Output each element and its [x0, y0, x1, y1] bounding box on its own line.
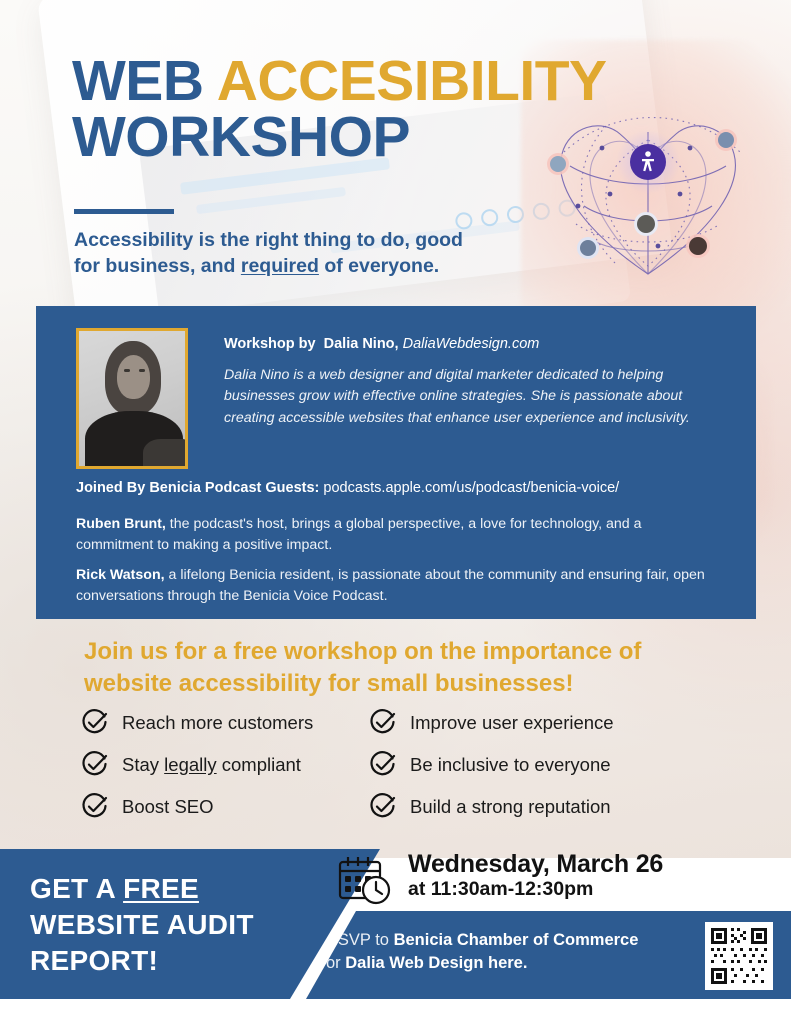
free-audit-free-emphasis: FREE [123, 873, 199, 904]
free-audit-line-2: WEBSITE AUDIT [30, 907, 330, 943]
benefit-label-emphasis: legally [164, 754, 216, 775]
headline-web: WEB [72, 49, 217, 113]
event-datetime: Wednesday, March 26 at 11:30am-12:30pm [336, 850, 766, 910]
title-divider-rule [74, 209, 174, 214]
avatar-eye [124, 369, 130, 372]
free-audit-line-1-before: GET A [30, 873, 123, 904]
speaker-name: Dalia Nino, [324, 336, 399, 352]
guest-entry: Rick Watson, a lifelong Benicia resident… [76, 565, 721, 607]
rsvp-here-link[interactable]: here. [483, 954, 527, 972]
cta-line-2: website accessibility for small business… [84, 668, 734, 700]
page-title: WEB ACCESIBILITY WORKSHOP [72, 54, 672, 166]
rsvp-line-2: or Dalia Web Design here. [326, 952, 696, 975]
subheading-line-2: for business, and required of everyone. [74, 254, 544, 280]
check-circle-icon [80, 792, 109, 821]
poster: WEB ACCESIBILITY WORKSHOP Accessibility … [0, 0, 791, 1024]
benefit-item: Improve user experience [368, 706, 740, 739]
guests-heading: Joined By Benicia Podcast Guests: podcas… [76, 480, 736, 496]
benefit-item: Reach more customers [80, 706, 368, 739]
headline-accesibility: ACCESIBILITY [217, 49, 607, 113]
rsvp-dalia-name[interactable]: Dalia Web Design [345, 954, 483, 972]
rsvp-text: RSVP to Benicia Chamber of Commerce or D… [326, 929, 696, 976]
guest-description: a lifelong Benicia resident, is passiona… [76, 567, 705, 604]
avatar-eye [139, 369, 145, 372]
calendar-clock-icon [336, 854, 394, 911]
subheading-line-2-before: for business, and [74, 255, 241, 277]
avatar-face [117, 355, 150, 399]
rsvp-line-1-before: RSVP to [326, 931, 394, 949]
benefit-item: Build a strong reputation [368, 790, 740, 823]
free-audit-line-3: REPORT! [30, 943, 330, 979]
speaker-avatar [76, 328, 188, 469]
speaker-website[interactable]: DaliaWebdesign.com [403, 336, 540, 352]
benefit-label: Reach more customers [122, 712, 313, 734]
headline-line-1: WEB ACCESIBILITY [72, 54, 672, 110]
avatar-node [715, 129, 737, 151]
avatar-shoulder [143, 439, 187, 469]
speaker-panel: Workshop by Dalia Nino, DaliaWebdesign.c… [36, 306, 756, 619]
free-audit-text: GET A FREE WEBSITE AUDIT REPORT! [30, 871, 330, 978]
rsvp-banner: RSVP to Benicia Chamber of Commerce or D… [306, 911, 791, 999]
benefit-label: Build a strong reputation [410, 796, 611, 818]
qr-code-icon[interactable] [705, 922, 773, 990]
benefit-label: Boost SEO [122, 796, 214, 818]
benefit-label-after: compliant [217, 754, 301, 775]
guest-entry: Ruben Brunt, the podcast's host, brings … [76, 514, 721, 556]
benefit-item: Boost SEO [80, 790, 368, 823]
call-to-action-heading: Join us for a free workshop on the impor… [84, 636, 734, 701]
workshop-by-label: Workshop by [224, 336, 316, 352]
benefit-label-before: Stay [122, 754, 164, 775]
free-audit-line-1: GET A FREE [30, 871, 330, 907]
rsvp-chamber-name[interactable]: Benicia Chamber of Commerce [394, 931, 639, 949]
headline-line-2: WORKSHOP [72, 110, 672, 166]
subheading: Accessibility is the right thing to do, … [74, 228, 544, 280]
event-time: at 11:30am-12:30pm [408, 878, 758, 901]
check-circle-icon [368, 750, 397, 779]
cta-line-1: Join us for a free workshop on the impor… [84, 636, 734, 668]
guests-heading-label: Joined By Benicia Podcast Guests: [76, 480, 319, 496]
benefit-label: Improve user experience [410, 712, 614, 734]
benefit-item: Be inclusive to everyone [368, 748, 740, 781]
subheading-line-1: Accessibility is the right thing to do, … [74, 228, 544, 254]
check-circle-icon [80, 750, 109, 779]
subheading-required-emphasis: required [241, 255, 319, 277]
podcast-url-link[interactable]: podcasts.apple.com/us/podcast/benicia-vo… [323, 480, 619, 496]
check-circle-icon [368, 708, 397, 737]
benefit-label: Be inclusive to everyone [410, 754, 611, 776]
check-circle-icon [80, 708, 109, 737]
speaker-bio: Dalia Nino is a web designer and digital… [224, 365, 724, 429]
check-circle-icon [368, 792, 397, 821]
avatar-node [686, 234, 710, 258]
benefit-label: Stay legally compliant [122, 754, 301, 776]
avatar-node [634, 212, 658, 236]
avatar-node [577, 237, 599, 259]
benefit-item: Stay legally compliant [80, 748, 368, 781]
guest-name: Ruben Brunt, [76, 516, 166, 532]
rsvp-line-2-before: or [326, 954, 345, 972]
benefits-list: Reach more customers Improve user experi… [80, 706, 740, 823]
guest-name: Rick Watson, [76, 567, 165, 583]
event-date: Wednesday, March 26 [408, 850, 758, 878]
rsvp-line-1: RSVP to Benicia Chamber of Commerce [326, 929, 696, 952]
workshop-by-line: Workshop by Dalia Nino, DaliaWebdesign.c… [224, 336, 724, 352]
subheading-line-2-after: of everyone. [319, 255, 439, 277]
